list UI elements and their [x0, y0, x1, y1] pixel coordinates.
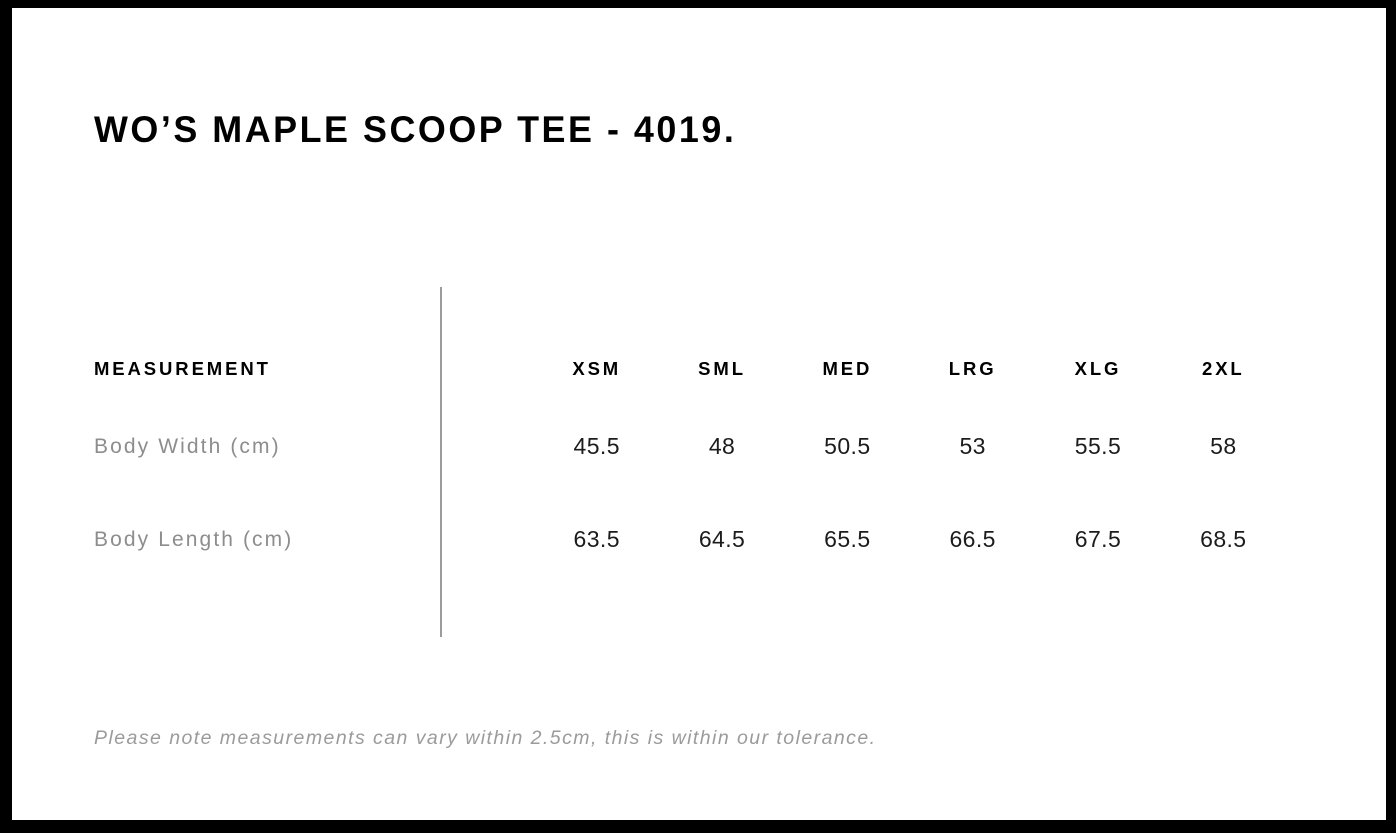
- cell-body-width-2xl: 58: [1161, 400, 1286, 493]
- cell-body-length-xsm: 63.5: [534, 493, 659, 586]
- row-label-body-length: Body Length (cm): [94, 493, 534, 586]
- cell-body-length-lrg: 66.5: [910, 493, 1035, 586]
- cell-body-width-sml: 48: [659, 400, 784, 493]
- column-header-xlg: XLG: [1035, 338, 1160, 400]
- column-header-med: MED: [785, 338, 910, 400]
- cell-body-width-lrg: 53: [910, 400, 1035, 493]
- column-header-sml: SML: [659, 338, 784, 400]
- cell-body-length-med: 65.5: [785, 493, 910, 586]
- measurement-table: MEASUREMENT XSM SML MED LRG XLG 2XL Body…: [94, 338, 1286, 586]
- column-header-2xl: 2XL: [1161, 338, 1286, 400]
- cell-body-length-sml: 64.5: [659, 493, 784, 586]
- column-header-xsm: XSM: [534, 338, 659, 400]
- cell-body-width-xsm: 45.5: [534, 400, 659, 493]
- cell-body-width-med: 50.5: [785, 400, 910, 493]
- row-label-body-width: Body Width (cm): [94, 400, 534, 493]
- size-chart-card: WO’S MAPLE SCOOP TEE - 4019. MEASUREMENT…: [0, 0, 1396, 833]
- cell-body-length-2xl: 68.5: [1161, 493, 1286, 586]
- cell-body-length-xlg: 67.5: [1035, 493, 1160, 586]
- column-header-lrg: LRG: [910, 338, 1035, 400]
- table-row: Body Length (cm) 63.5 64.5 65.5 66.5 67.…: [94, 493, 1286, 586]
- tolerance-note: Please note measurements can vary within…: [94, 723, 877, 753]
- column-header-measurement: MEASUREMENT: [94, 338, 534, 400]
- chart-surface: WO’S MAPLE SCOOP TEE - 4019. MEASUREMENT…: [12, 8, 1386, 820]
- cell-body-width-xlg: 55.5: [1035, 400, 1160, 493]
- table-row: Body Width (cm) 45.5 48 50.5 53 55.5 58: [94, 400, 1286, 493]
- page-title: WO’S MAPLE SCOOP TEE - 4019.: [94, 106, 736, 154]
- table-header-row: MEASUREMENT XSM SML MED LRG XLG 2XL: [94, 338, 1286, 400]
